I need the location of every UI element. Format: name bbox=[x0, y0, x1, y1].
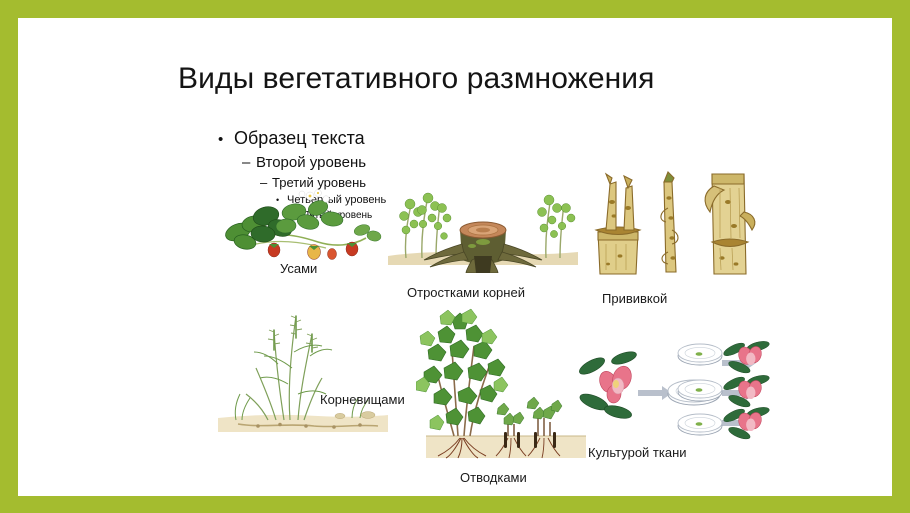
caption-rhizome: Корневищами bbox=[320, 392, 405, 407]
page-title: Виды вегетативного размножения bbox=[178, 62, 738, 96]
caption-root-shoots: Отростками корней bbox=[407, 285, 525, 300]
currant-bush-layering-icon bbox=[416, 306, 591, 466]
slide-canvas: Виды вегетативного размножения • Образец… bbox=[18, 18, 892, 496]
caption-layering: Отводками bbox=[460, 470, 527, 485]
bullet-glyph-2: – bbox=[242, 152, 256, 173]
bullet-label-2: Второй уровень bbox=[256, 152, 366, 173]
caption-usami: Усами bbox=[280, 261, 317, 276]
bullet-glyph-1: • bbox=[218, 128, 234, 152]
tree-stump-root-suckers-icon bbox=[388, 168, 578, 273]
orchid-tissue-culture-icon bbox=[578, 336, 773, 441]
couch-grass-rhizome-icon bbox=[218, 308, 388, 438]
strawberry-runner-plant-icon bbox=[214, 186, 389, 261]
slide-frame: Виды вегетативного размножения • Образец… bbox=[0, 0, 910, 513]
bullet-level-1: • Образец текста bbox=[218, 126, 548, 152]
caption-tissue-culture: Культурой ткани bbox=[588, 445, 687, 460]
bullet-label-1: Образец текста bbox=[234, 126, 365, 150]
caption-graft: Прививкой bbox=[602, 291, 667, 306]
grafting-branches-icon bbox=[576, 168, 766, 278]
